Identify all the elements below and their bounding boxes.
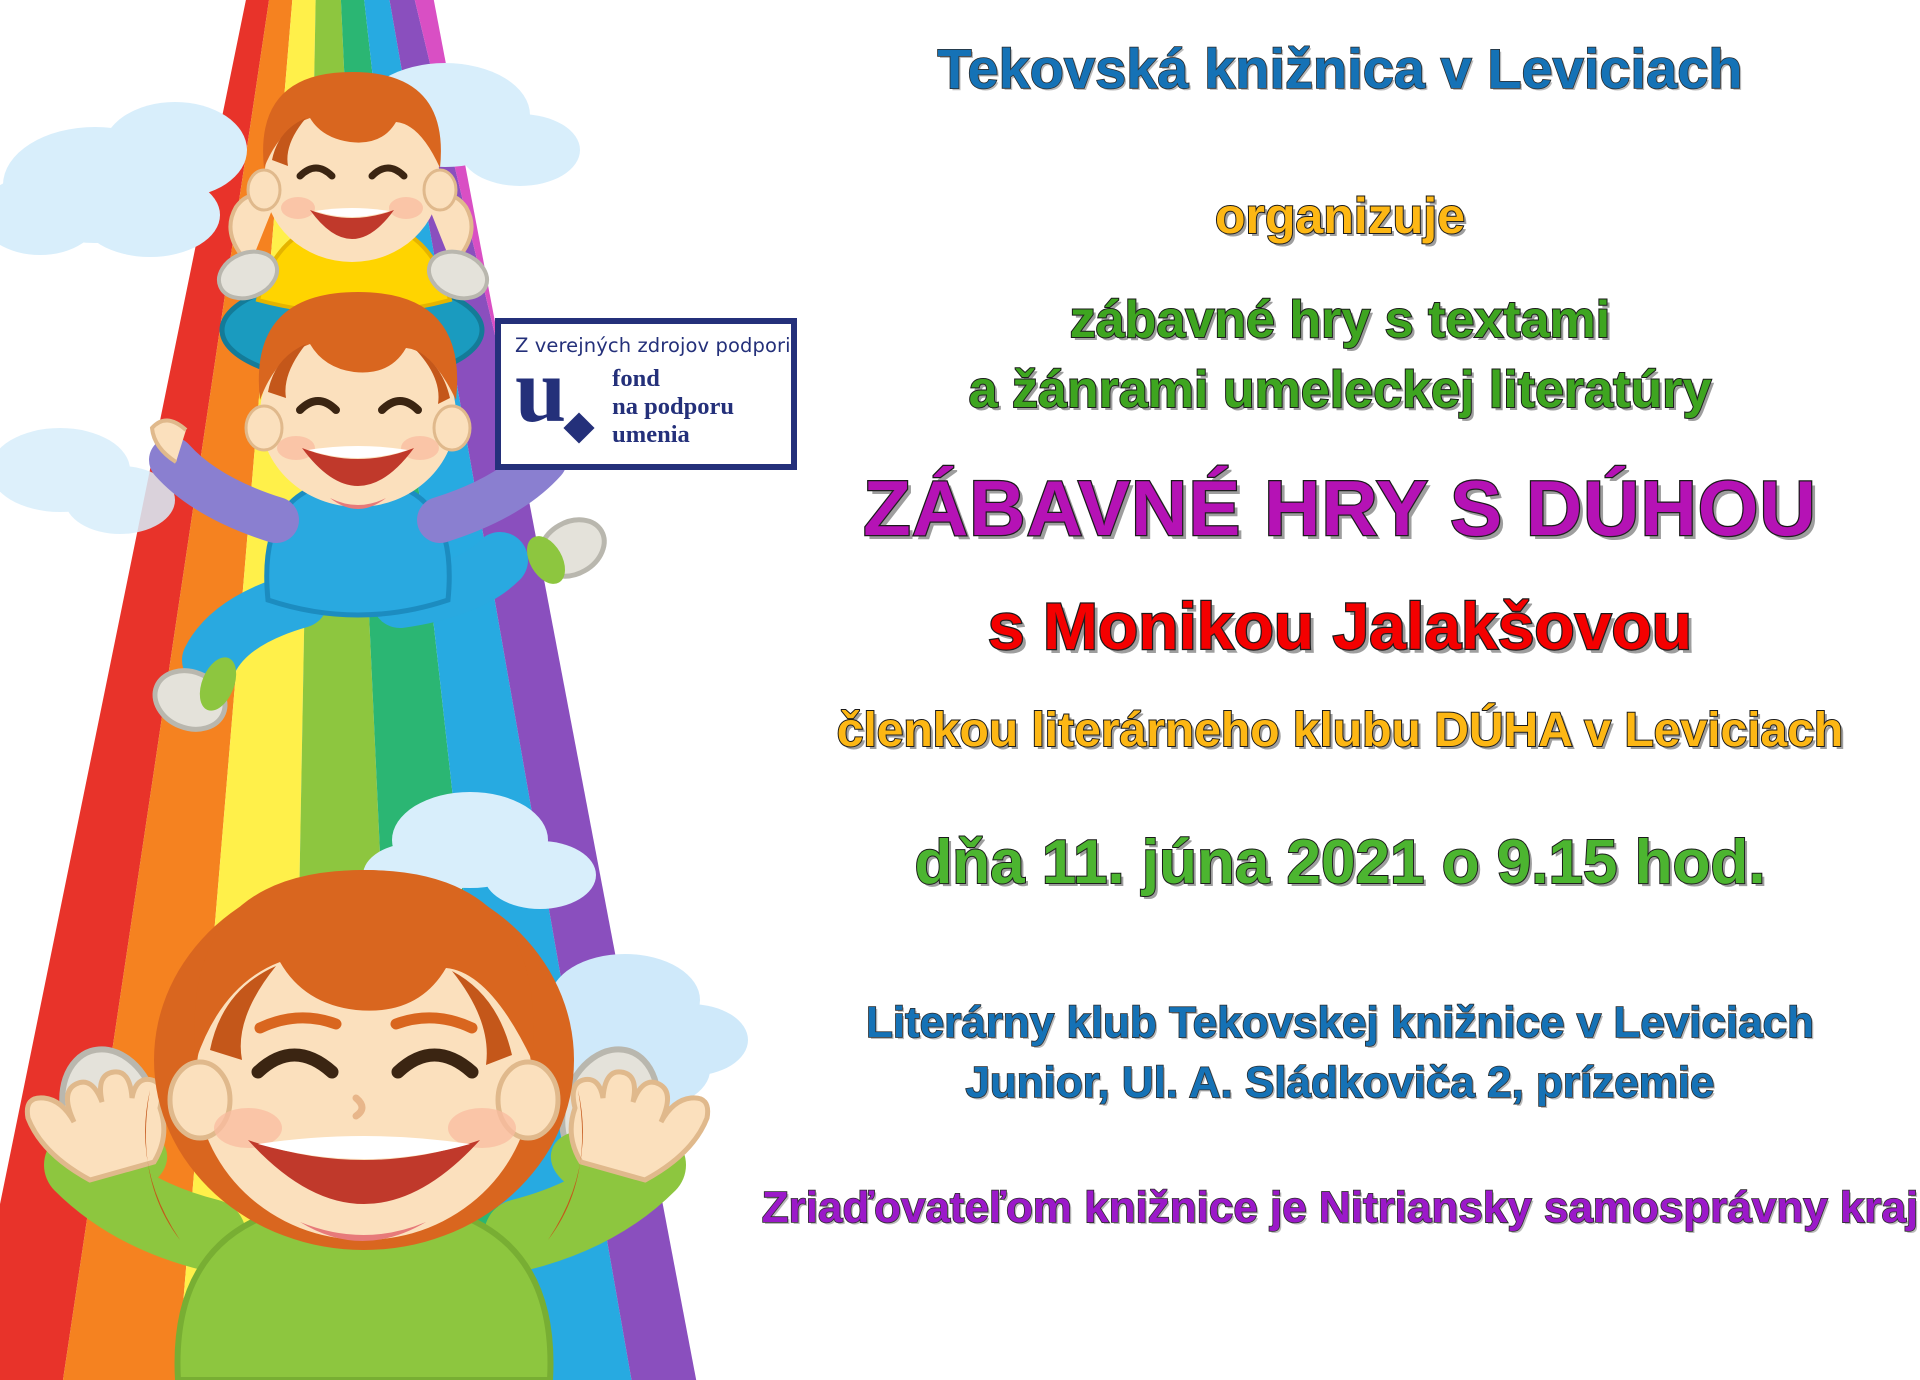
rainbow-slide-illustration [0, 0, 760, 1380]
child-bottom [0, 0, 760, 1380]
sponsor-logo-body-text: fond na podporu umenia [612, 365, 734, 449]
sponsor-logo-diamond-icon [564, 412, 595, 443]
event-datetime: dňa 11. júna 2021 o 9.15 hod. [760, 830, 1920, 895]
guest-name: s Monikou Jalakšovou [760, 592, 1920, 661]
venue-line-2: Junior, Ul. A. Sládkoviča 2, prízemie [760, 1060, 1920, 1106]
poster-text-column: Tekovská knižnica v Leviciach organizuje… [760, 0, 1920, 1380]
sponsor-logo-fond-na-podporu-umenia: Z verejných zdrojov podporil u fond na p… [495, 318, 797, 470]
library-header: Tekovská knižnica v Leviciach [760, 40, 1920, 99]
founder-note: Zriaďovateľom knižnice je Nitriansky sam… [760, 1185, 1920, 1231]
poster-canvas: Z verejných zdrojov podporil u fond na p… [0, 0, 1920, 1380]
sponsor-logo-u-mark: u [515, 353, 564, 427]
event-subtitle-line-2: a žánrami umeleckej literatúry [760, 363, 1920, 418]
guest-affiliation: členkou literárneho klubu DÚHA v Levicia… [760, 706, 1920, 756]
event-subtitle-line-1: zábavné hry s textami [760, 293, 1920, 348]
venue-line-1: Literárny klub Tekovskej knižnice v Levi… [760, 1000, 1920, 1046]
event-title: ZÁBAVNÉ HRY S DÚHOU [760, 468, 1920, 550]
sponsor-logo-body-line-1: fond [612, 365, 734, 393]
organizes-label: organizuje [760, 190, 1920, 243]
sponsor-logo-body-line-3: umenia [612, 421, 734, 449]
sponsor-logo-body-line-2: na podporu [612, 393, 734, 421]
